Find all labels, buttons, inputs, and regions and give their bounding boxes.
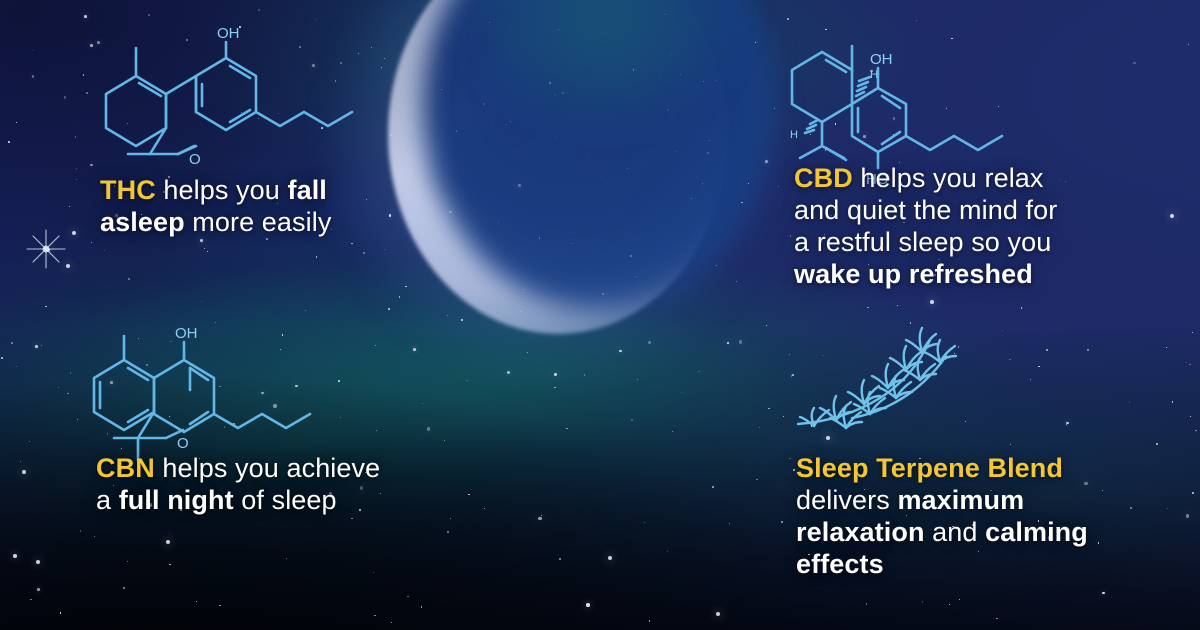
star (97, 41, 100, 44)
cbd-line-1: CBD helps you relax (794, 162, 1174, 194)
star (80, 530, 81, 531)
star (11, 342, 13, 344)
star (572, 243, 573, 244)
star (30, 599, 32, 601)
star (196, 601, 197, 602)
star (305, 310, 307, 312)
star (715, 80, 716, 81)
star (110, 381, 113, 384)
svg-text:OH: OH (175, 325, 198, 342)
star (1192, 332, 1193, 333)
star (541, 515, 542, 516)
cbn-line1-plain: helps you achieve (155, 453, 380, 483)
infographic-canvas: OH O H (0, 0, 1200, 630)
star (77, 419, 78, 420)
star-bright (36, 560, 40, 564)
star (450, 518, 451, 519)
star (879, 55, 880, 56)
star (756, 479, 758, 481)
star (441, 89, 442, 90)
star (825, 149, 827, 151)
star (755, 42, 756, 43)
star (219, 386, 220, 387)
star (233, 423, 235, 425)
star (897, 305, 898, 306)
star (338, 380, 340, 382)
star (351, 518, 352, 519)
star (489, 22, 490, 23)
star (104, 250, 105, 251)
star (20, 461, 21, 462)
cbd-line1-plain: helps you relax (853, 163, 1044, 193)
star (1002, 330, 1003, 331)
star (386, 81, 387, 82)
star (37, 588, 40, 591)
star (910, 322, 912, 324)
thc-line1-plain: helps you (156, 175, 288, 205)
star (1, 357, 3, 359)
star (1087, 349, 1089, 351)
star (558, 29, 559, 30)
star (340, 417, 341, 418)
star (703, 81, 704, 82)
star (16, 366, 17, 367)
star-bright (930, 300, 934, 304)
star (510, 121, 511, 122)
cbd-molecule: H H OH HO (782, 34, 1002, 164)
star (83, 74, 85, 76)
star (736, 281, 737, 282)
star (76, 168, 77, 169)
star (825, 29, 826, 30)
star (461, 319, 464, 322)
terpene-line3-plain: and (925, 517, 986, 547)
star (33, 50, 34, 51)
star (1133, 62, 1136, 65)
star (84, 15, 87, 18)
star (549, 82, 550, 83)
star (716, 265, 717, 266)
thc-line-1: THC helps you fall (100, 174, 500, 206)
star (1030, 379, 1031, 380)
cbn-line-2: a full night of sleep (96, 484, 516, 516)
star-bright (826, 436, 830, 440)
star (1190, 416, 1191, 417)
star (16, 122, 17, 123)
svg-text:H: H (790, 129, 798, 141)
star (127, 561, 128, 562)
star (90, 44, 93, 47)
star (965, 421, 966, 422)
star (224, 426, 225, 427)
star (507, 371, 511, 375)
star (373, 572, 374, 573)
star-bright (66, 264, 70, 268)
star (631, 419, 633, 421)
star (791, 375, 792, 376)
cbn-line2-plain-b: of sleep (234, 485, 337, 515)
terpene-line4-bold: effects (796, 549, 884, 579)
star (45, 306, 47, 308)
svg-text:OH: OH (870, 51, 893, 68)
star (121, 448, 122, 449)
star (186, 39, 188, 41)
star (381, 67, 382, 68)
star (340, 62, 342, 64)
star (1066, 424, 1067, 425)
svg-text:H: H (870, 69, 878, 81)
star (421, 606, 422, 607)
star (707, 152, 709, 154)
star (384, 58, 385, 59)
star (566, 428, 567, 429)
star (127, 123, 128, 124)
terpene-line3-bold-b: calming (985, 517, 1088, 547)
star (835, 123, 836, 124)
star (648, 341, 652, 345)
star (278, 113, 279, 114)
star (215, 322, 216, 323)
star (996, 618, 998, 620)
star (466, 380, 467, 381)
star (1188, 44, 1189, 45)
star (681, 392, 682, 393)
star (258, 118, 259, 119)
star (527, 352, 528, 353)
star-bright (22, 470, 26, 474)
cbd-line-4: wake up refreshed (794, 258, 1174, 290)
svg-text:OH: OH (217, 25, 240, 42)
star (64, 96, 67, 99)
star (375, 345, 376, 346)
thc-line2-plain: more easily (185, 207, 332, 237)
star (60, 612, 62, 614)
star (630, 255, 632, 257)
svg-text:O: O (177, 435, 189, 452)
star (312, 64, 315, 67)
star (200, 239, 203, 242)
star (374, 615, 375, 616)
terpene-line3-bold-a: relaxation (796, 517, 925, 547)
star (741, 202, 742, 203)
star (447, 315, 448, 316)
star (1021, 307, 1023, 309)
star (584, 374, 586, 376)
star-bright (46, 248, 50, 252)
star (1172, 401, 1174, 403)
star (201, 301, 202, 302)
star (554, 387, 555, 388)
star (781, 521, 783, 523)
cbd-line4-bold: wake up refreshed (794, 259, 1033, 289)
star (789, 354, 790, 355)
star (286, 558, 287, 559)
star (261, 392, 264, 395)
star (169, 416, 170, 417)
star (388, 308, 390, 310)
star (1192, 492, 1194, 494)
star (555, 136, 556, 137)
star (627, 168, 628, 169)
thc-line1-bold: fall (287, 175, 326, 205)
star (759, 427, 760, 428)
star (790, 235, 792, 237)
star (811, 425, 812, 426)
star (94, 536, 95, 537)
star (946, 108, 947, 109)
star (376, 430, 377, 431)
star-bright (608, 556, 612, 560)
terpene-line-2: delivers maximum (796, 484, 1166, 516)
star (672, 431, 673, 432)
star (476, 239, 477, 240)
star (1195, 430, 1197, 432)
star (422, 403, 423, 404)
star (702, 183, 703, 184)
star (371, 47, 372, 48)
star (169, 564, 170, 565)
star (351, 243, 353, 245)
star (363, 252, 365, 254)
star (258, 9, 260, 11)
star (146, 364, 148, 366)
svg-text:O: O (189, 151, 201, 168)
star (822, 355, 823, 356)
cbn-compound-label: CBN (96, 453, 155, 483)
star (321, 127, 323, 129)
star (793, 469, 795, 471)
star (273, 404, 277, 408)
star (559, 558, 561, 560)
star (67, 393, 68, 394)
star (1189, 364, 1191, 366)
star (58, 387, 59, 388)
star (727, 342, 730, 345)
star (954, 353, 955, 354)
star (810, 134, 811, 135)
star (644, 522, 645, 523)
star (75, 136, 77, 138)
star (709, 140, 710, 141)
star (1156, 443, 1158, 445)
terpene-compound-label: Sleep Terpene Blend (796, 453, 1063, 483)
star (729, 523, 730, 524)
star (916, 20, 917, 21)
star (789, 458, 791, 460)
cbd-line-2: and quiet the mind for (794, 194, 1174, 226)
star (712, 486, 714, 488)
star (783, 416, 784, 417)
cbn-molecule: O OH (84, 326, 284, 461)
star (148, 14, 150, 16)
star (951, 38, 952, 39)
cbn-line-1: CBN helps you achieve (96, 452, 516, 484)
star (1009, 359, 1011, 361)
star (491, 126, 492, 127)
star (224, 129, 225, 130)
star (1186, 362, 1187, 363)
star (739, 340, 743, 344)
star (636, 276, 637, 277)
star (91, 242, 92, 243)
terpene-text-block: Sleep Terpene Blend delivers maximum rel… (796, 452, 1166, 581)
moon-crater (474, 112, 532, 152)
moon-disc (388, 0, 728, 334)
thc-line-2: asleep more easily (100, 206, 500, 238)
star (70, 372, 72, 374)
star (128, 278, 130, 280)
star (1046, 349, 1048, 351)
star (316, 256, 318, 258)
star (1167, 508, 1168, 509)
star (766, 325, 767, 326)
thc-text-block: THC helps you fall asleep more easily (100, 174, 500, 238)
star (574, 233, 575, 234)
star (893, 117, 896, 120)
star (107, 433, 109, 435)
star (239, 26, 241, 28)
thc-molecule: OH O (98, 42, 298, 172)
star (266, 238, 268, 240)
star (893, 134, 894, 135)
star (335, 80, 337, 82)
star (76, 179, 77, 180)
star (867, 307, 869, 309)
moon-shadow-tint (474, 0, 734, 108)
star (385, 249, 386, 250)
thc-compound-label: THC (100, 175, 156, 205)
star (506, 124, 507, 125)
crescent-moon (388, 0, 728, 334)
star (8, 141, 10, 143)
star (241, 112, 242, 113)
star (602, 177, 603, 178)
star (13, 554, 17, 558)
star (958, 346, 960, 348)
thc-line2-bold: asleep (100, 207, 185, 237)
star (35, 345, 38, 348)
star (538, 517, 542, 521)
star (659, 74, 660, 75)
star (32, 75, 35, 78)
star (282, 334, 283, 335)
star (959, 599, 960, 600)
star (358, 53, 359, 54)
star (922, 601, 924, 603)
star (391, 622, 392, 623)
terpene-line2-plain: delivers (796, 485, 897, 515)
star (1186, 514, 1190, 518)
star (456, 130, 457, 131)
star (41, 345, 42, 346)
star (619, 350, 622, 353)
star (787, 18, 789, 20)
star-bright (72, 231, 76, 235)
star (649, 620, 650, 621)
star (444, 440, 445, 441)
herb-sprig (796, 322, 976, 442)
star (316, 19, 317, 20)
star (219, 605, 221, 607)
star-bright (166, 540, 170, 544)
star (299, 46, 301, 48)
star (390, 134, 392, 136)
star (633, 69, 634, 70)
star (774, 108, 775, 109)
star-bright (716, 612, 720, 616)
star (587, 153, 588, 154)
star (280, 349, 281, 350)
star (405, 286, 407, 288)
star (949, 604, 950, 605)
star (748, 183, 749, 184)
cbd-line-3: a restful sleep so you (794, 226, 1174, 258)
star (399, 296, 400, 297)
star (586, 603, 590, 607)
star (602, 293, 604, 295)
star (447, 531, 449, 533)
cbd-compound-label: CBD (794, 163, 853, 193)
star (413, 348, 416, 351)
star (554, 373, 558, 377)
star (483, 103, 485, 105)
cbn-text-block: CBN helps you achieve a full night of sl… (96, 452, 516, 516)
star (1038, 366, 1039, 367)
star (207, 251, 208, 252)
star (667, 551, 668, 552)
star (518, 184, 521, 187)
cbd-text-block: CBD helps you relax and quiet the mind f… (794, 162, 1174, 291)
sparkle-star (26, 229, 66, 269)
terpene-line2-bold: maximum (897, 485, 1024, 515)
star (182, 337, 183, 338)
moon-shadow (422, 0, 774, 310)
star (555, 94, 556, 95)
cbn-line2-plain-a: a (96, 485, 119, 515)
star (170, 341, 172, 343)
star (665, 14, 666, 15)
star (401, 170, 402, 171)
star (1102, 592, 1105, 595)
star (778, 186, 779, 187)
star (204, 248, 205, 249)
star (670, 54, 671, 55)
star (523, 289, 524, 290)
star (1010, 444, 1011, 445)
terpene-line-1: Sleep Terpene Blend (796, 452, 1166, 484)
star (29, 441, 30, 442)
star (637, 379, 638, 380)
star (792, 374, 794, 376)
star (123, 587, 125, 589)
star (295, 385, 298, 388)
star (90, 164, 93, 167)
cbn-line2-bold: full night (119, 485, 234, 515)
star (427, 427, 431, 431)
star (680, 74, 681, 75)
star (138, 338, 139, 339)
star (407, 596, 409, 598)
star (870, 70, 873, 73)
terpene-line-3: relaxation and calming (796, 516, 1166, 548)
star (691, 198, 692, 199)
star (520, 311, 521, 312)
star (866, 603, 868, 605)
star (765, 160, 768, 163)
terpene-line-4: effects (796, 548, 1166, 580)
star (698, 371, 700, 373)
star (667, 109, 669, 111)
